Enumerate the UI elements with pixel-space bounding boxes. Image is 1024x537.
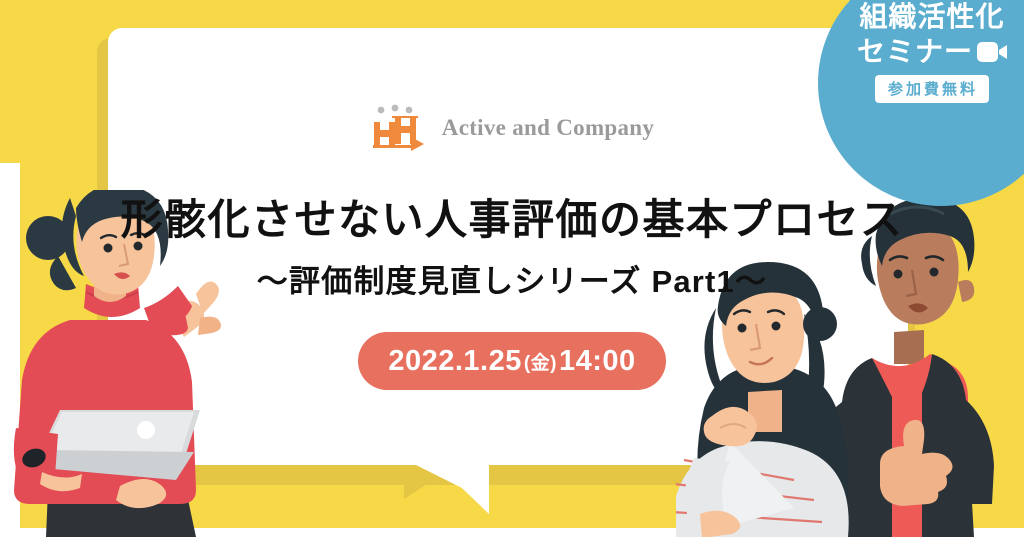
right-woman-eye-right xyxy=(772,322,781,331)
webinar-banner: Active and Company 形骸化させない人事評価の基本プロセス 〜評… xyxy=(0,0,1024,537)
logo-baseline xyxy=(373,145,417,148)
logo-text: Active and Company xyxy=(442,115,654,141)
video-camera-body xyxy=(977,42,998,62)
logo-dot-3 xyxy=(405,107,412,114)
active-and-company-logo-mark-icon xyxy=(370,104,428,152)
seminar-badge-line1: 組織活性化 xyxy=(840,0,1024,33)
date-badge: 2022.1.25(金)14:00 xyxy=(358,332,665,390)
logo-dot-2 xyxy=(391,105,398,112)
logo-arrow xyxy=(411,137,424,151)
seminar-badge-content: 組織活性化 セミナー 参加費無料 xyxy=(818,0,1024,103)
speech-bubble-tail xyxy=(437,464,489,514)
time-value: 14:00 xyxy=(559,345,636,378)
date-value: 2022.1.25 xyxy=(388,345,522,378)
seminar-badge-line2-row: セミナー xyxy=(840,35,1024,68)
left-figure-laptop-logo xyxy=(137,421,155,439)
logo-dot-1 xyxy=(377,107,384,114)
page-title: 形骸化させない人事評価の基本プロセス xyxy=(0,186,1024,247)
free-admission-label: 参加費無料 xyxy=(875,75,989,103)
video-camera-lens xyxy=(999,45,1007,59)
left-figure-laptop-screen xyxy=(44,412,194,456)
schedule-row: 2022.1.25(金)14:00 xyxy=(0,332,1024,390)
seminar-badge-line2: セミナー xyxy=(857,35,973,68)
video-camera-icon xyxy=(977,40,1007,64)
page-subtitle: 〜評価制度見直しシリーズ Part1〜 xyxy=(0,256,1024,301)
logo-letter-h1 xyxy=(374,122,395,146)
weekday-value: (金) xyxy=(522,348,559,375)
